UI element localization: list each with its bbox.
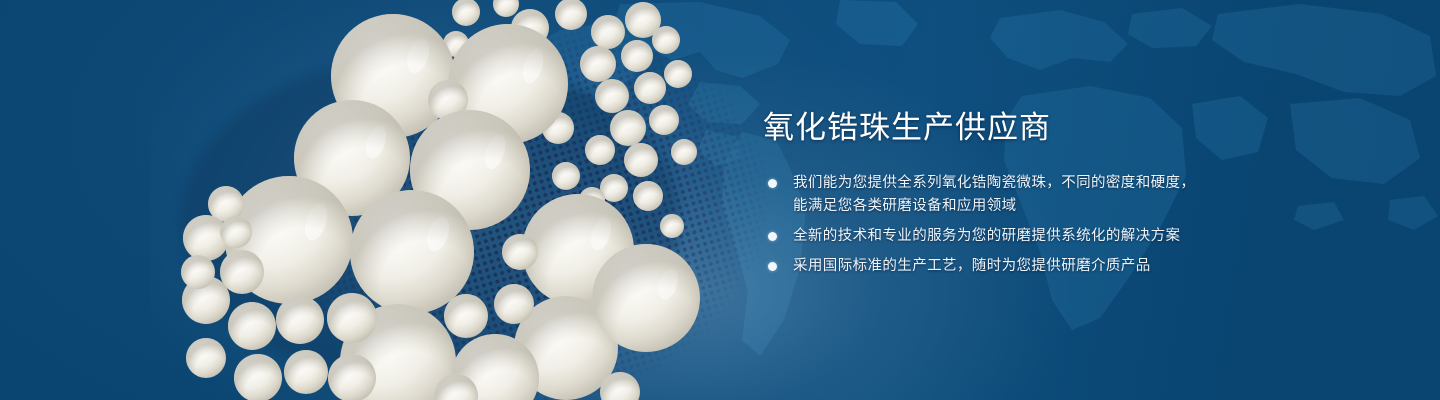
list-item: 我们能为您提供全系列氧化锆陶瓷微珠，不同的密度和硬度， 能满足您各类研磨设备和应… [763, 172, 1233, 218]
feature-text-line1: 全新的技术和专业的服务为您的研磨提供系统化的解决方案 [793, 228, 1180, 244]
feature-text-line1: 我们能为您提供全系列氧化锆陶瓷微珠，不同的密度和硬度， [793, 175, 1195, 191]
bullet-dot-icon [768, 262, 777, 271]
feature-text-line2: 能满足您各类研磨设备和应用领域 [793, 195, 1233, 218]
list-item: 全新的技术和专业的服务为您的研磨提供系统化的解决方案 [763, 225, 1233, 248]
page-title: 氧化锆珠生产供应商 [763, 108, 1233, 148]
banner-copy: 氧化锆珠生产供应商 我们能为您提供全系列氧化锆陶瓷微珠，不同的密度和硬度， 能满… [763, 108, 1233, 285]
bullet-dot-icon [768, 232, 777, 241]
feature-list: 我们能为您提供全系列氧化锆陶瓷微珠，不同的密度和硬度， 能满足您各类研磨设备和应… [763, 172, 1233, 278]
bullet-dot-icon [768, 179, 777, 188]
hero-banner: 氧化锆珠生产供应商 我们能为您提供全系列氧化锆陶瓷微珠，不同的密度和硬度， 能满… [0, 0, 1440, 400]
feature-text-line1: 采用国际标准的生产工艺，随时为您提供研磨介质产品 [793, 258, 1151, 274]
list-item: 采用国际标准的生产工艺，随时为您提供研磨介质产品 [763, 255, 1233, 278]
